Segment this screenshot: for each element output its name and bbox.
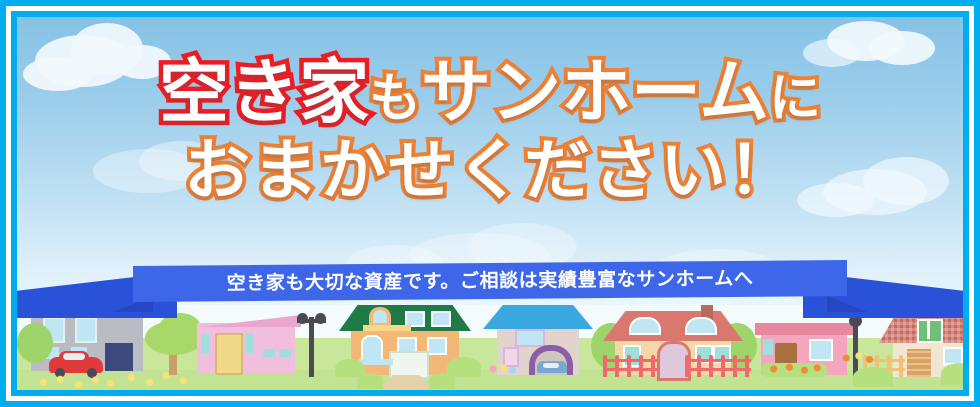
window [515, 329, 545, 347]
cloud-top-right-b [869, 31, 935, 65]
window-green-bar [927, 319, 930, 339]
window [763, 339, 773, 355]
flowerbox [363, 325, 411, 331]
house-pinkcottage-roof [755, 323, 853, 335]
cloud-top-right-c [803, 39, 861, 67]
flower-patch [839, 351, 875, 365]
bush [941, 363, 963, 385]
shutter [245, 333, 253, 353]
window [809, 339, 833, 361]
cloud-mid-right-b [863, 157, 949, 205]
door-wood [907, 349, 931, 377]
cloud-left-low-b [139, 141, 225, 181]
car-blue-window [543, 363, 559, 368]
fallen-leaves [35, 375, 119, 389]
tree-left [17, 323, 53, 363]
fence-red [685, 355, 751, 377]
shutter [201, 333, 209, 353]
banner-stage: 空き家もサンホームに おまかせください！ 空き家も大切な資産です。ご相談は実績豊… [17, 17, 963, 390]
car-window [63, 353, 85, 360]
window [263, 349, 275, 357]
bush [429, 373, 455, 389]
promo-banner: 空き家もサンホームに おまかせください！ 空き家も大切な資産です。ご相談は実績豊… [0, 0, 980, 407]
ribbon-banner: 空き家も大切な資産です。ご相談は実績豊富なサンホームへ [17, 260, 963, 322]
double-door [389, 351, 429, 379]
street-lamp-pole [853, 321, 858, 377]
bush [447, 357, 481, 377]
flower-patch [487, 363, 517, 375]
street-lamp-pole [309, 317, 314, 377]
cloud-top-left-c [113, 45, 171, 79]
window [361, 335, 383, 361]
cloud-top-left-d [23, 57, 93, 91]
door-dark-blue [105, 343, 133, 371]
window [279, 349, 291, 357]
door-yellow [215, 333, 243, 375]
window [427, 337, 447, 355]
fence-red [603, 355, 657, 377]
flower-hedge-blooms [765, 363, 823, 375]
cloud-mid-right-c [797, 183, 875, 217]
fallen-leaves [123, 371, 193, 387]
bush [357, 373, 383, 389]
window-green [917, 319, 943, 343]
bush [853, 367, 893, 387]
